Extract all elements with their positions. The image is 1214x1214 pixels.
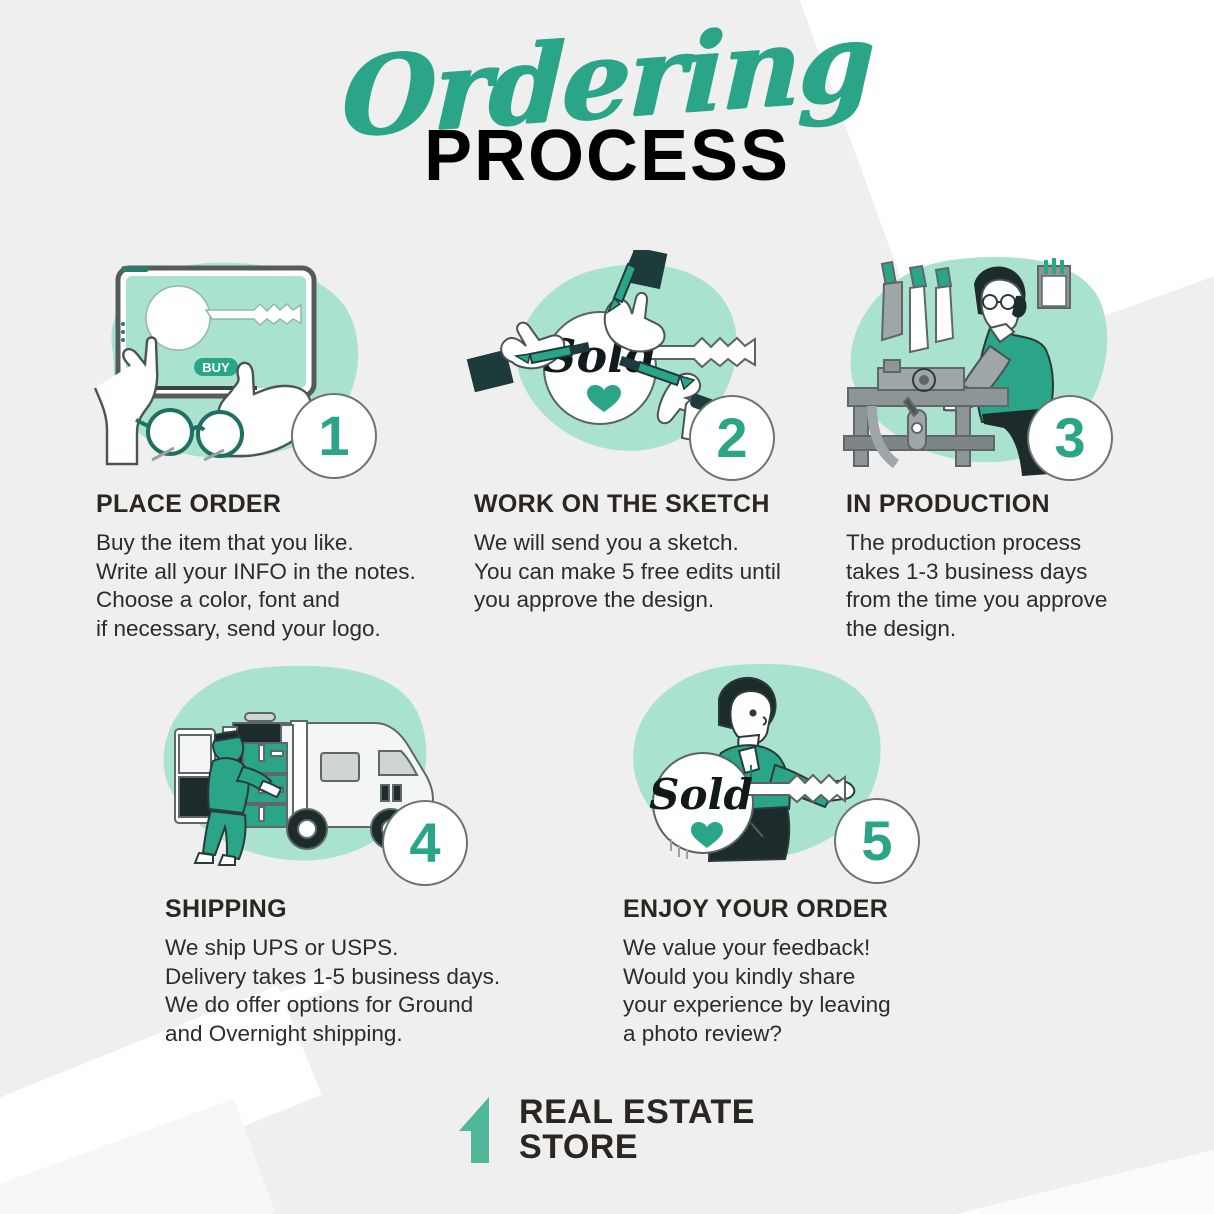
step-2-title: WORK ON THE SKETCH [464,490,832,519]
steps-row-top: BUY 1 [0,250,1214,643]
step-card-5: Sold 5 ENJOY YOUR ORDER We value your fe… [607,655,1067,1048]
step-3-body: The production process takes 1-3 busines… [838,529,1206,643]
step-1-body: Buy the item that you like. Write all yo… [90,529,458,643]
step-3-title: IN PRODUCTION [838,490,1206,519]
step-card-4: 4 SHIPPING We ship UPS or USPS. Delivery… [147,655,607,1048]
step-4-illustration: 4 [155,655,599,885]
svg-text:BUY: BUY [202,360,230,375]
step-3-illustration: 3 [838,250,1206,480]
step-4-body: We ship UPS or USPS. Delivery takes 1-5 … [155,934,599,1048]
page-title-script: Ordering [340,7,874,153]
step-1-illustration: BUY 1 [90,250,458,480]
step-card-1: BUY 1 [82,250,466,643]
step-number-badge-3: 3 [1028,396,1112,480]
footer-logo: REAL ESTATE STORE [0,1095,1214,1166]
step-card-2: Sold [456,250,840,643]
step-1-title: PLACE ORDER [90,490,458,519]
step-5-illustration: Sold 5 [615,655,1059,885]
left-hand-icon [95,338,157,465]
buy-button: BUY [194,358,238,376]
steps-row-bottom: 4 SHIPPING We ship UPS or USPS. Delivery… [0,655,1214,1048]
step-2-body: We will send you a sketch. You can make … [464,529,832,615]
step-number-badge-4: 4 [383,801,467,885]
step-number-badge-5: 5 [835,799,919,883]
step-card-3: 3 IN PRODUCTION The production process t… [830,250,1214,643]
step-number-badge-2: 2 [690,396,774,480]
step-number-5: 5 [861,809,892,872]
brand-name: REAL ESTATE STORE [519,1095,755,1166]
step-number-2: 2 [716,406,747,469]
step-4-title: SHIPPING [155,895,599,924]
step-number-4: 4 [409,811,440,874]
step-number-1: 1 [318,404,349,467]
house-arrow-icon [459,1097,503,1163]
step-2-illustration: Sold [464,250,832,480]
step-5-title: ENJOY YOUR ORDER [615,895,1059,924]
step-number-badge-1: 1 [292,394,376,478]
step-number-3: 3 [1054,406,1085,469]
tool-cabinet-icon [1038,258,1070,308]
sold-script-label-2: Sold [649,770,753,819]
step-5-body: We value your feedback! Would you kindly… [615,934,1059,1048]
page-header: Ordering PROCESS [0,26,1214,192]
